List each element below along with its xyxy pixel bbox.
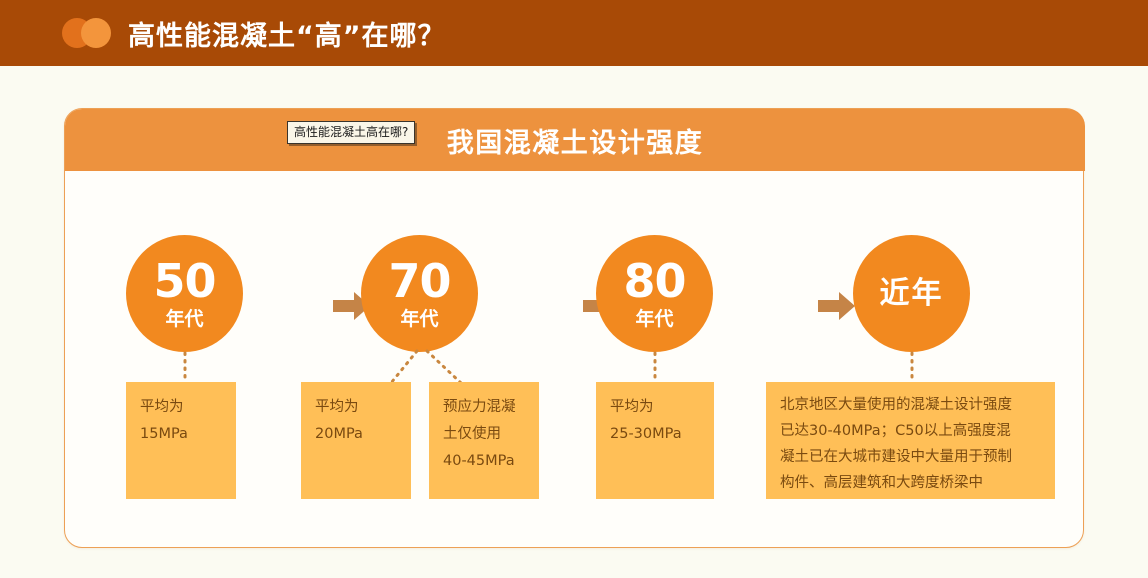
circle-recent-label: 近年: [880, 279, 944, 309]
content-panel: 我国混凝土设计强度 50 年代 平均为 15MPa: [64, 108, 1084, 548]
panel-title: 我国混凝土设计强度: [447, 121, 704, 160]
logo-circle-right: [81, 18, 111, 48]
connector-80s: [647, 353, 663, 383]
box-70s-a: 平均为 20MPa: [301, 382, 411, 499]
circle-70s[interactable]: 70 年代: [361, 235, 478, 352]
circle-70s-value: 70: [388, 258, 450, 304]
box-70s-b-line-3: 40-45MPa: [443, 448, 525, 475]
page-title: 高性能混凝土“高”在哪？: [128, 14, 446, 53]
box-80s-line-2: 25-30MPa: [610, 421, 700, 448]
circle-50s-value: 50: [153, 258, 215, 304]
tooltip: 高性能混凝土高在哪?: [287, 121, 415, 144]
circle-70s-unit: 年代: [400, 310, 438, 329]
box-70s-b-line-1: 预应力混凝: [443, 394, 525, 421]
panel-header: 我国混凝土设计强度: [65, 109, 1085, 171]
box-recent-line-1: 北京地区大量使用的混凝土设计强度: [780, 392, 1041, 418]
connector-recent: [904, 353, 920, 383]
top-header-bar: 高性能混凝土“高”在哪？: [0, 0, 1148, 66]
circle-80s-unit: 年代: [635, 310, 673, 329]
circle-80s-value: 80: [623, 258, 685, 304]
connector-70s: [355, 351, 485, 385]
two-circles-icon: [62, 18, 118, 48]
box-50s-line-2: 15MPa: [140, 421, 222, 448]
circle-50s-unit: 年代: [165, 310, 203, 329]
circle-50s[interactable]: 50 年代: [126, 235, 243, 352]
box-70s-a-line-1: 平均为: [315, 394, 397, 421]
box-50s-line-1: 平均为: [140, 394, 222, 421]
circle-80s[interactable]: 80 年代: [596, 235, 713, 352]
box-70s-b-line-2: 土仅使用: [443, 421, 525, 448]
box-recent: 北京地区大量使用的混凝土设计强度 已达30-40MPa；C50以上高强度混 凝土…: [766, 382, 1055, 499]
connector-50s: [177, 353, 193, 383]
box-80s-line-1: 平均为: [610, 394, 700, 421]
circle-recent[interactable]: 近年: [853, 235, 970, 352]
box-recent-line-2: 已达30-40MPa；C50以上高强度混: [780, 418, 1041, 444]
timeline-diagram: 50 年代 平均为 15MPa 70 年代: [65, 171, 1085, 549]
box-80s: 平均为 25-30MPa: [596, 382, 714, 499]
box-recent-line-3: 凝土已在大城市建设中大量用于预制: [780, 444, 1041, 470]
box-70s-a-line-2: 20MPa: [315, 421, 397, 448]
box-70s-b: 预应力混凝 土仅使用 40-45MPa: [429, 382, 539, 499]
box-50s: 平均为 15MPa: [126, 382, 236, 499]
box-recent-line-4: 构件、高层建筑和大跨度桥梁中: [780, 470, 1041, 496]
arrow-right-icon-3: [818, 291, 856, 321]
